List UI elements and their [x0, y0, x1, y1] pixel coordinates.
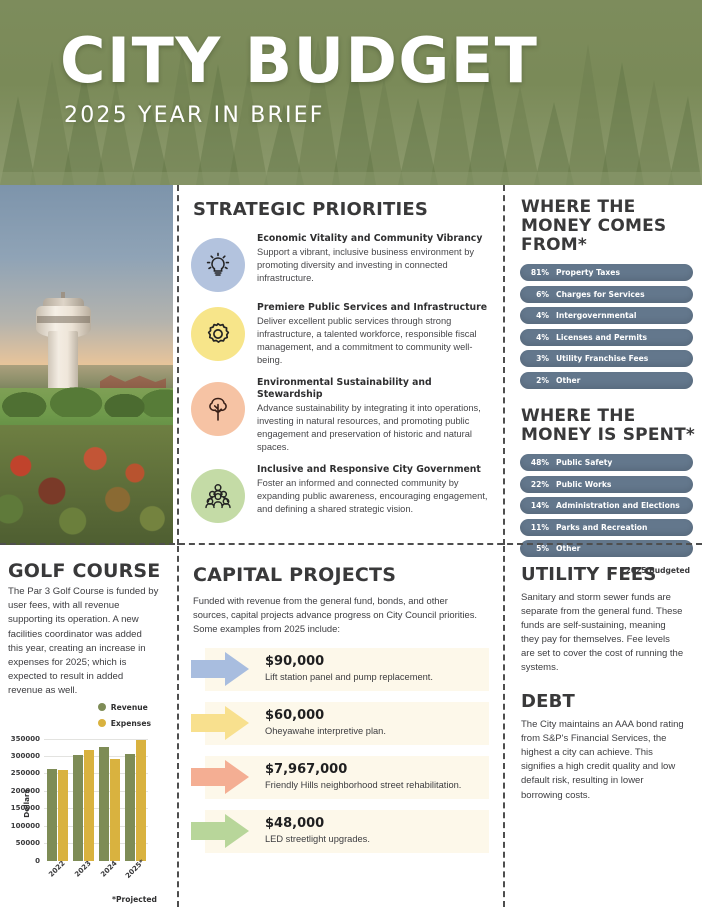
water-tower-photo	[0, 185, 173, 545]
priority-title: Environmental Sustainability and Steward…	[257, 377, 489, 400]
revenue-percent: 6%	[529, 290, 549, 299]
chart-y-tick: 200000	[11, 787, 40, 795]
capital-project-row: $48,000 LED streetlight upgrades.	[205, 810, 489, 853]
chart-bar	[58, 770, 68, 861]
revenue-percent: 4%	[529, 333, 549, 342]
header-banner: CITY BUDGET 2025 YEAR IN BRIEF	[0, 0, 702, 185]
chart-y-tick: 100000	[11, 822, 40, 830]
revenue-row: 2% Other	[520, 372, 693, 389]
project-amount: $60,000	[265, 709, 386, 724]
expense-percent: 11%	[529, 523, 549, 532]
capital-project-row: $60,000 Oheyawahe interpretive plan.	[205, 702, 489, 745]
chart-bar	[110, 759, 120, 861]
chart-y-tick: 300000	[11, 752, 40, 760]
chart-y-tick: 250000	[11, 769, 40, 777]
arrow-right-icon	[189, 758, 251, 796]
infographic-page: CITY BUDGET 2025 YEAR IN BRIEF	[0, 0, 702, 907]
arrow-right-icon	[189, 812, 251, 850]
chart-bar-group	[44, 739, 70, 861]
revenue-swatch	[98, 703, 106, 711]
expense-label: Public Safety	[556, 458, 612, 467]
chart-y-tick: 0	[35, 857, 40, 865]
revenue-percent: 3%	[529, 354, 549, 363]
golf-course-section: GOLF COURSE The Par 3 Golf Course is fun…	[0, 546, 173, 907]
project-description: Friendly Hills neighborhood street rehab…	[265, 779, 461, 792]
chart-x-axis: 2022202320242025*	[44, 865, 148, 873]
chart-bar	[99, 747, 109, 861]
tree-icon	[191, 382, 245, 436]
chart-legend: Revenue Expenses	[98, 703, 151, 735]
capital-project-row: $7,967,000 Friendly Hills neighborhood s…	[205, 756, 489, 799]
expense-row: 11% Parks and Recreation	[520, 519, 693, 536]
gear-icon	[191, 307, 245, 361]
utility-debt-section: UTILITY FEES Sanitary and storm sewer fu…	[509, 546, 702, 907]
revenue-row: 81% Property Taxes	[520, 264, 693, 281]
expense-percent: 22%	[529, 480, 549, 489]
money-comes-from-heading: WHERE THE MONEY COMES FROM*	[509, 185, 702, 255]
legend-item-expenses: Expenses	[98, 719, 151, 728]
priority-title: Premiere Public Services and Infrastruct…	[257, 302, 489, 314]
top-section: STRATEGIC PRIORITIES Economic Vitality a…	[0, 185, 702, 545]
project-amount: $7,967,000	[265, 763, 461, 778]
divider-left	[177, 185, 179, 545]
money-is-spent-heading: WHERE THE MONEY IS SPENT*	[509, 393, 702, 445]
people-group-icon	[191, 469, 245, 523]
revenue-percent: 2%	[529, 376, 549, 385]
divider-right	[503, 185, 505, 545]
expense-label: Administration and Elections	[556, 501, 680, 510]
capital-projects-heading: CAPITAL PROJECTS	[181, 546, 499, 594]
money-is-spent-list: 48% Public Safety 22% Public Works 14% A…	[509, 445, 702, 557]
page-title: CITY BUDGET	[60, 30, 538, 92]
project-description: Oheyawahe interpretive plan.	[265, 725, 386, 738]
priority-description: Advance sustainability by integrating it…	[257, 402, 489, 455]
priority-item-public-services: Premiere Public Services and Infrastruct…	[181, 301, 499, 376]
revenue-label: Intergovernmental	[556, 311, 637, 320]
revenue-row: 4% Intergovernmental	[520, 307, 693, 324]
chart-y-tick: 150000	[11, 804, 40, 812]
strategic-priorities-section: STRATEGIC PRIORITIES Economic Vitality a…	[181, 185, 499, 545]
capital-projects-intro: Funded with revenue from the general fun…	[181, 594, 499, 636]
revenue-label: Property Taxes	[556, 268, 620, 277]
chart-bars	[44, 739, 148, 861]
revenue-percent: 4%	[529, 311, 549, 320]
divider-horizontal	[0, 543, 702, 545]
priority-title: Inclusive and Responsive City Government	[257, 464, 489, 476]
chart-annotation: *Projected	[112, 895, 157, 904]
chart-bar	[73, 755, 83, 860]
priority-description: Support a vibrant, inclusive business en…	[257, 246, 489, 286]
chart-plot-area: Dollars 05000010000015000020000025000030…	[44, 739, 148, 861]
expense-label: Public Works	[556, 480, 611, 489]
chart-bar-group	[96, 739, 122, 861]
expense-label: Parks and Recreation	[556, 523, 647, 532]
banner-text-block: CITY BUDGET 2025 YEAR IN BRIEF	[60, 30, 538, 128]
money-breakdown-section: WHERE THE MONEY COMES FROM* 81% Property…	[509, 185, 702, 545]
divider-left-bottom	[177, 546, 179, 907]
expense-percent: 14%	[529, 501, 549, 510]
chart-bar	[84, 750, 94, 860]
priority-title: Economic Vitality and Community Vibrancy	[257, 233, 489, 245]
utility-fees-body: Sanitary and storm sewer funds are separ…	[509, 591, 702, 675]
utility-fees-heading: UTILITY FEES	[509, 546, 702, 591]
project-amount: $90,000	[265, 655, 433, 670]
chart-y-tick: 50000	[16, 839, 40, 847]
revenue-label: Utility Franchise Fees	[556, 354, 648, 363]
priority-description: Foster an informed and connected communi…	[257, 477, 489, 517]
chart-y-tick: 350000	[11, 735, 40, 743]
debt-body: The City maintains an AAA bond rating fr…	[509, 718, 702, 802]
revenue-label: Licenses and Permits	[556, 333, 647, 342]
capital-project-row: $90,000 Lift station panel and pump repl…	[205, 648, 489, 691]
capital-projects-section: CAPITAL PROJECTS Funded with revenue fro…	[181, 546, 499, 907]
arrow-right-icon	[189, 704, 251, 742]
priority-item-inclusive-government: Inclusive and Responsive City Government…	[181, 463, 499, 532]
expenses-swatch	[98, 719, 106, 727]
project-amount: $48,000	[265, 817, 370, 832]
expense-row: 22% Public Works	[520, 476, 693, 493]
page-subtitle: 2025 YEAR IN BRIEF	[64, 103, 538, 128]
expense-row: 14% Administration and Elections	[520, 497, 693, 514]
arrow-right-icon	[189, 650, 251, 688]
project-description: LED streetlight upgrades.	[265, 833, 370, 846]
revenue-row: 6% Charges for Services	[520, 286, 693, 303]
divider-right-bottom	[503, 546, 505, 907]
priority-description: Deliver excellent public services throug…	[257, 315, 489, 368]
expense-row: 48% Public Safety	[520, 454, 693, 471]
chart-bar	[136, 740, 146, 860]
legend-label: Expenses	[111, 719, 151, 728]
revenue-label: Charges for Services	[556, 290, 645, 299]
priority-item-environmental: Environmental Sustainability and Steward…	[181, 376, 499, 463]
project-description: Lift station panel and pump replacement.	[265, 671, 433, 684]
lightbulb-icon	[191, 238, 245, 292]
bottom-section: GOLF COURSE The Par 3 Golf Course is fun…	[0, 546, 702, 907]
legend-label: Revenue	[111, 703, 148, 712]
expense-percent: 48%	[529, 458, 549, 467]
golf-course-body: The Par 3 Golf Course is funded by user …	[0, 585, 173, 699]
chart-bar	[47, 769, 57, 860]
golf-course-heading: GOLF COURSE	[0, 546, 173, 585]
chart-bar	[125, 754, 135, 861]
golf-revenue-expenses-chart: Revenue Expenses Dollars 050000100000150…	[0, 703, 173, 907]
priority-item-economic-vitality: Economic Vitality and Community Vibrancy…	[181, 232, 499, 301]
revenue-row: 4% Licenses and Permits	[520, 329, 693, 346]
revenue-row: 3% Utility Franchise Fees	[520, 350, 693, 367]
legend-item-revenue: Revenue	[98, 703, 151, 712]
revenue-label: Other	[556, 376, 580, 385]
chart-bar-group	[70, 739, 96, 861]
revenue-percent: 81%	[529, 268, 549, 277]
debt-heading: DEBT	[509, 675, 702, 718]
strategic-priorities-heading: STRATEGIC PRIORITIES	[181, 185, 499, 232]
money-comes-from-list: 81% Property Taxes 6% Charges for Servic…	[509, 255, 702, 389]
chart-bar-group	[122, 739, 148, 861]
